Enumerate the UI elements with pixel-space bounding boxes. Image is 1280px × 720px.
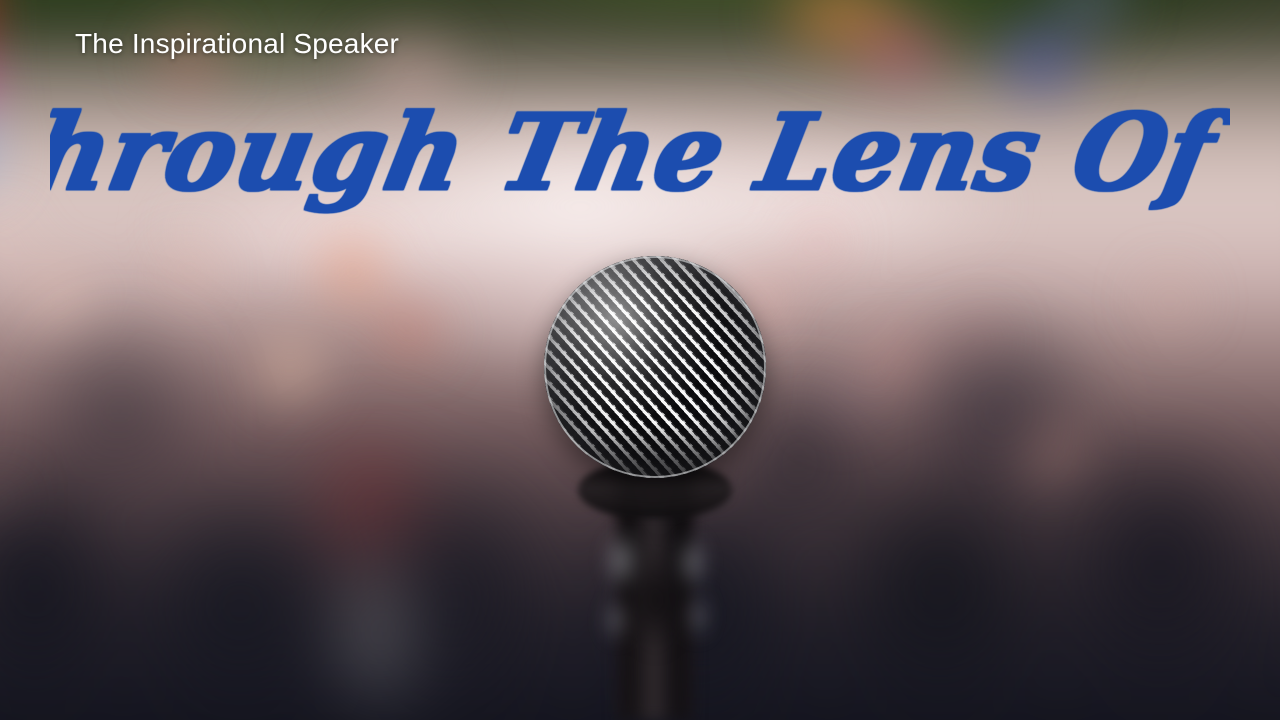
video-title-svg: Life Through The Lens Of Death bbox=[50, 97, 1230, 225]
channel-kicker-text: The Inspirational Speaker bbox=[75, 28, 399, 60]
video-title-slide: The Inspirational Speaker Life Through T… bbox=[0, 0, 1280, 720]
video-title: Life Through The Lens Of Death bbox=[0, 96, 1280, 226]
microphone-stand-clip bbox=[600, 520, 712, 670]
microphone-head-rim bbox=[544, 256, 766, 478]
microphone-mesh-head bbox=[544, 256, 766, 478]
video-title-text: Life Through The Lens Of Death bbox=[50, 97, 1230, 214]
